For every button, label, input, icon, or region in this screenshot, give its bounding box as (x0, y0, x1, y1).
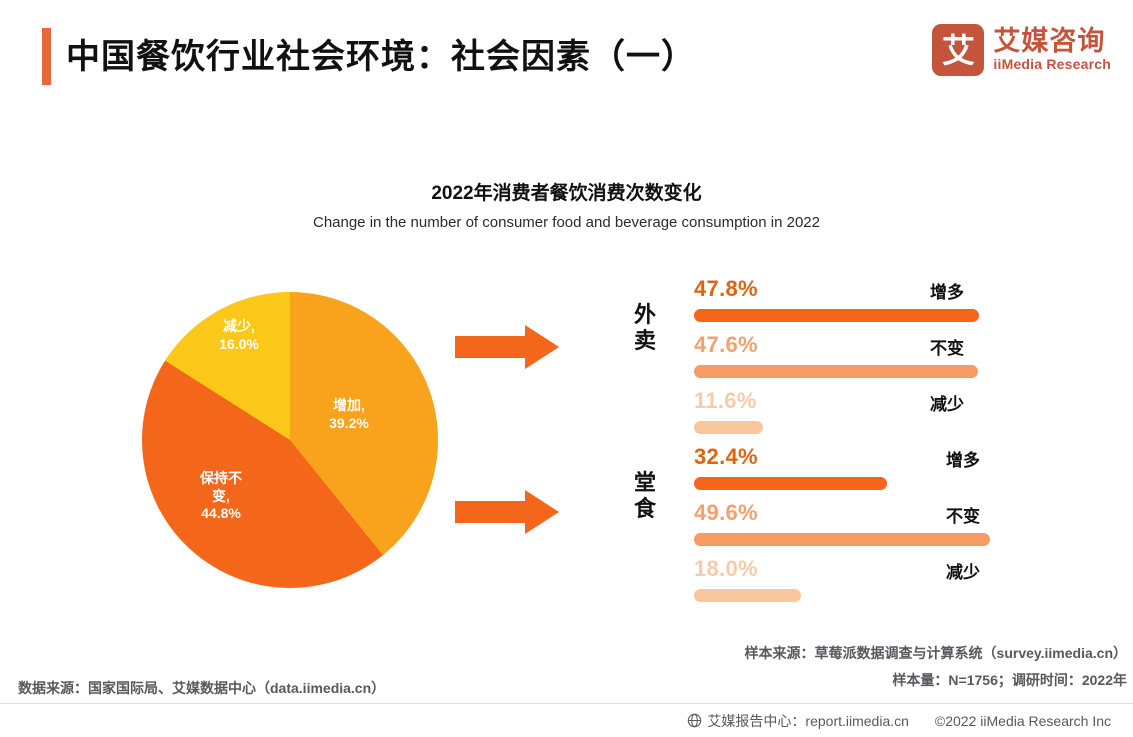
bar-row: 47.8% 增多 (694, 276, 1044, 332)
bar-rows-waimai: 47.8% 增多 47.6% 不变 11.6% 减少 (694, 276, 1044, 444)
bar-row: 18.0% 减少 (694, 556, 1044, 612)
bar-category-label: 不变 (946, 502, 980, 527)
bar-row: 11.6% 减少 (694, 388, 1044, 444)
footer-report-center: 艾媒报告中心：report.iimedia.cn (687, 711, 909, 731)
sample-size-text: 样本量：N=1756；调研时间：2022年 (745, 667, 1127, 694)
arrow-right-icon-top (455, 325, 563, 369)
bar-category-label: 增多 (930, 278, 964, 303)
page-title: 中国餐饮行业社会环境：社会因素（一） (66, 29, 696, 78)
bar-fill (694, 365, 978, 378)
globe-icon (687, 713, 702, 728)
bar-category-label: 不变 (930, 334, 964, 359)
sample-note: 样本来源：草莓派数据调查与计算系统（survey.iimedia.cn） 样本量… (745, 640, 1127, 693)
bar-value-label: 11.6% (694, 388, 757, 414)
logo-name-en: iiMedia Research (993, 56, 1111, 73)
pie-label-same: 保持不 变, 44.8% (184, 470, 258, 523)
arrow-shaft (455, 336, 529, 358)
logo-text: 艾媒咨询 iiMedia Research (993, 27, 1111, 73)
arrow-shaft (455, 501, 529, 523)
bar-fill (694, 421, 763, 434)
bar-group-label-tangshi: 堂食 (628, 470, 662, 522)
arrow-head (525, 325, 559, 369)
bar-row: 49.6% 不变 (694, 500, 1044, 556)
bar-fill (694, 309, 979, 322)
bar-fill (694, 533, 990, 546)
bar-value-label: 49.6% (694, 500, 758, 526)
data-source-note: 数据来源：国家国际局、艾媒数据中心（data.iimedia.cn） (18, 678, 385, 698)
title-accent-bar (42, 28, 51, 85)
bar-fill (694, 477, 887, 490)
bar-rows-tangshi: 32.4% 增多 49.6% 不变 18.0% 减少 (694, 444, 1044, 612)
pie-disc (142, 292, 438, 588)
bar-row: 47.6% 不变 (694, 332, 1044, 388)
pie-label-decrease: 减少, 16.0% (202, 318, 276, 353)
chart-subtitle: Change in the number of consumer food an… (0, 214, 1133, 231)
footer-report-center-text: 艾媒报告中心：report.iimedia.cn (707, 711, 909, 731)
pie-label-increase: 增加, 39.2% (312, 397, 386, 432)
brand-logo: 艾 艾媒咨询 iiMedia Research (932, 24, 1111, 76)
arrow-right-icon-bottom (455, 490, 563, 534)
bar-value-label: 18.0% (694, 556, 758, 582)
arrow-head (525, 490, 559, 534)
bar-group-label-waimai: 外卖 (628, 302, 662, 354)
slide-canvas: 中国餐饮行业社会环境：社会因素（一） 艾 艾媒咨询 iiMedia Resear… (0, 0, 1133, 737)
bar-category-label: 增多 (946, 446, 980, 471)
logo-name-cn: 艾媒咨询 (993, 27, 1111, 56)
sample-source-text: 样本来源：草莓派数据调查与计算系统（survey.iimedia.cn） (745, 640, 1127, 667)
bar-value-label: 32.4% (694, 444, 758, 470)
footer: 艾媒报告中心：report.iimedia.cn ©2022 iiMedia R… (0, 703, 1133, 737)
logo-mark-icon: 艾 (932, 24, 984, 76)
bar-value-label: 47.8% (694, 276, 758, 302)
pie-chart: 增加, 39.2% 保持不 变, 44.8% 减少, 16.0% (142, 292, 438, 588)
bar-fill (694, 589, 801, 602)
bar-category-label: 减少 (930, 390, 964, 415)
footer-copyright: ©2022 iiMedia Research Inc (935, 713, 1111, 729)
bar-value-label: 47.6% (694, 332, 758, 358)
bar-category-label: 减少 (946, 558, 980, 583)
bar-row: 32.4% 增多 (694, 444, 1044, 500)
chart-title: 2022年消费者餐饮消费次数变化 (0, 178, 1133, 205)
